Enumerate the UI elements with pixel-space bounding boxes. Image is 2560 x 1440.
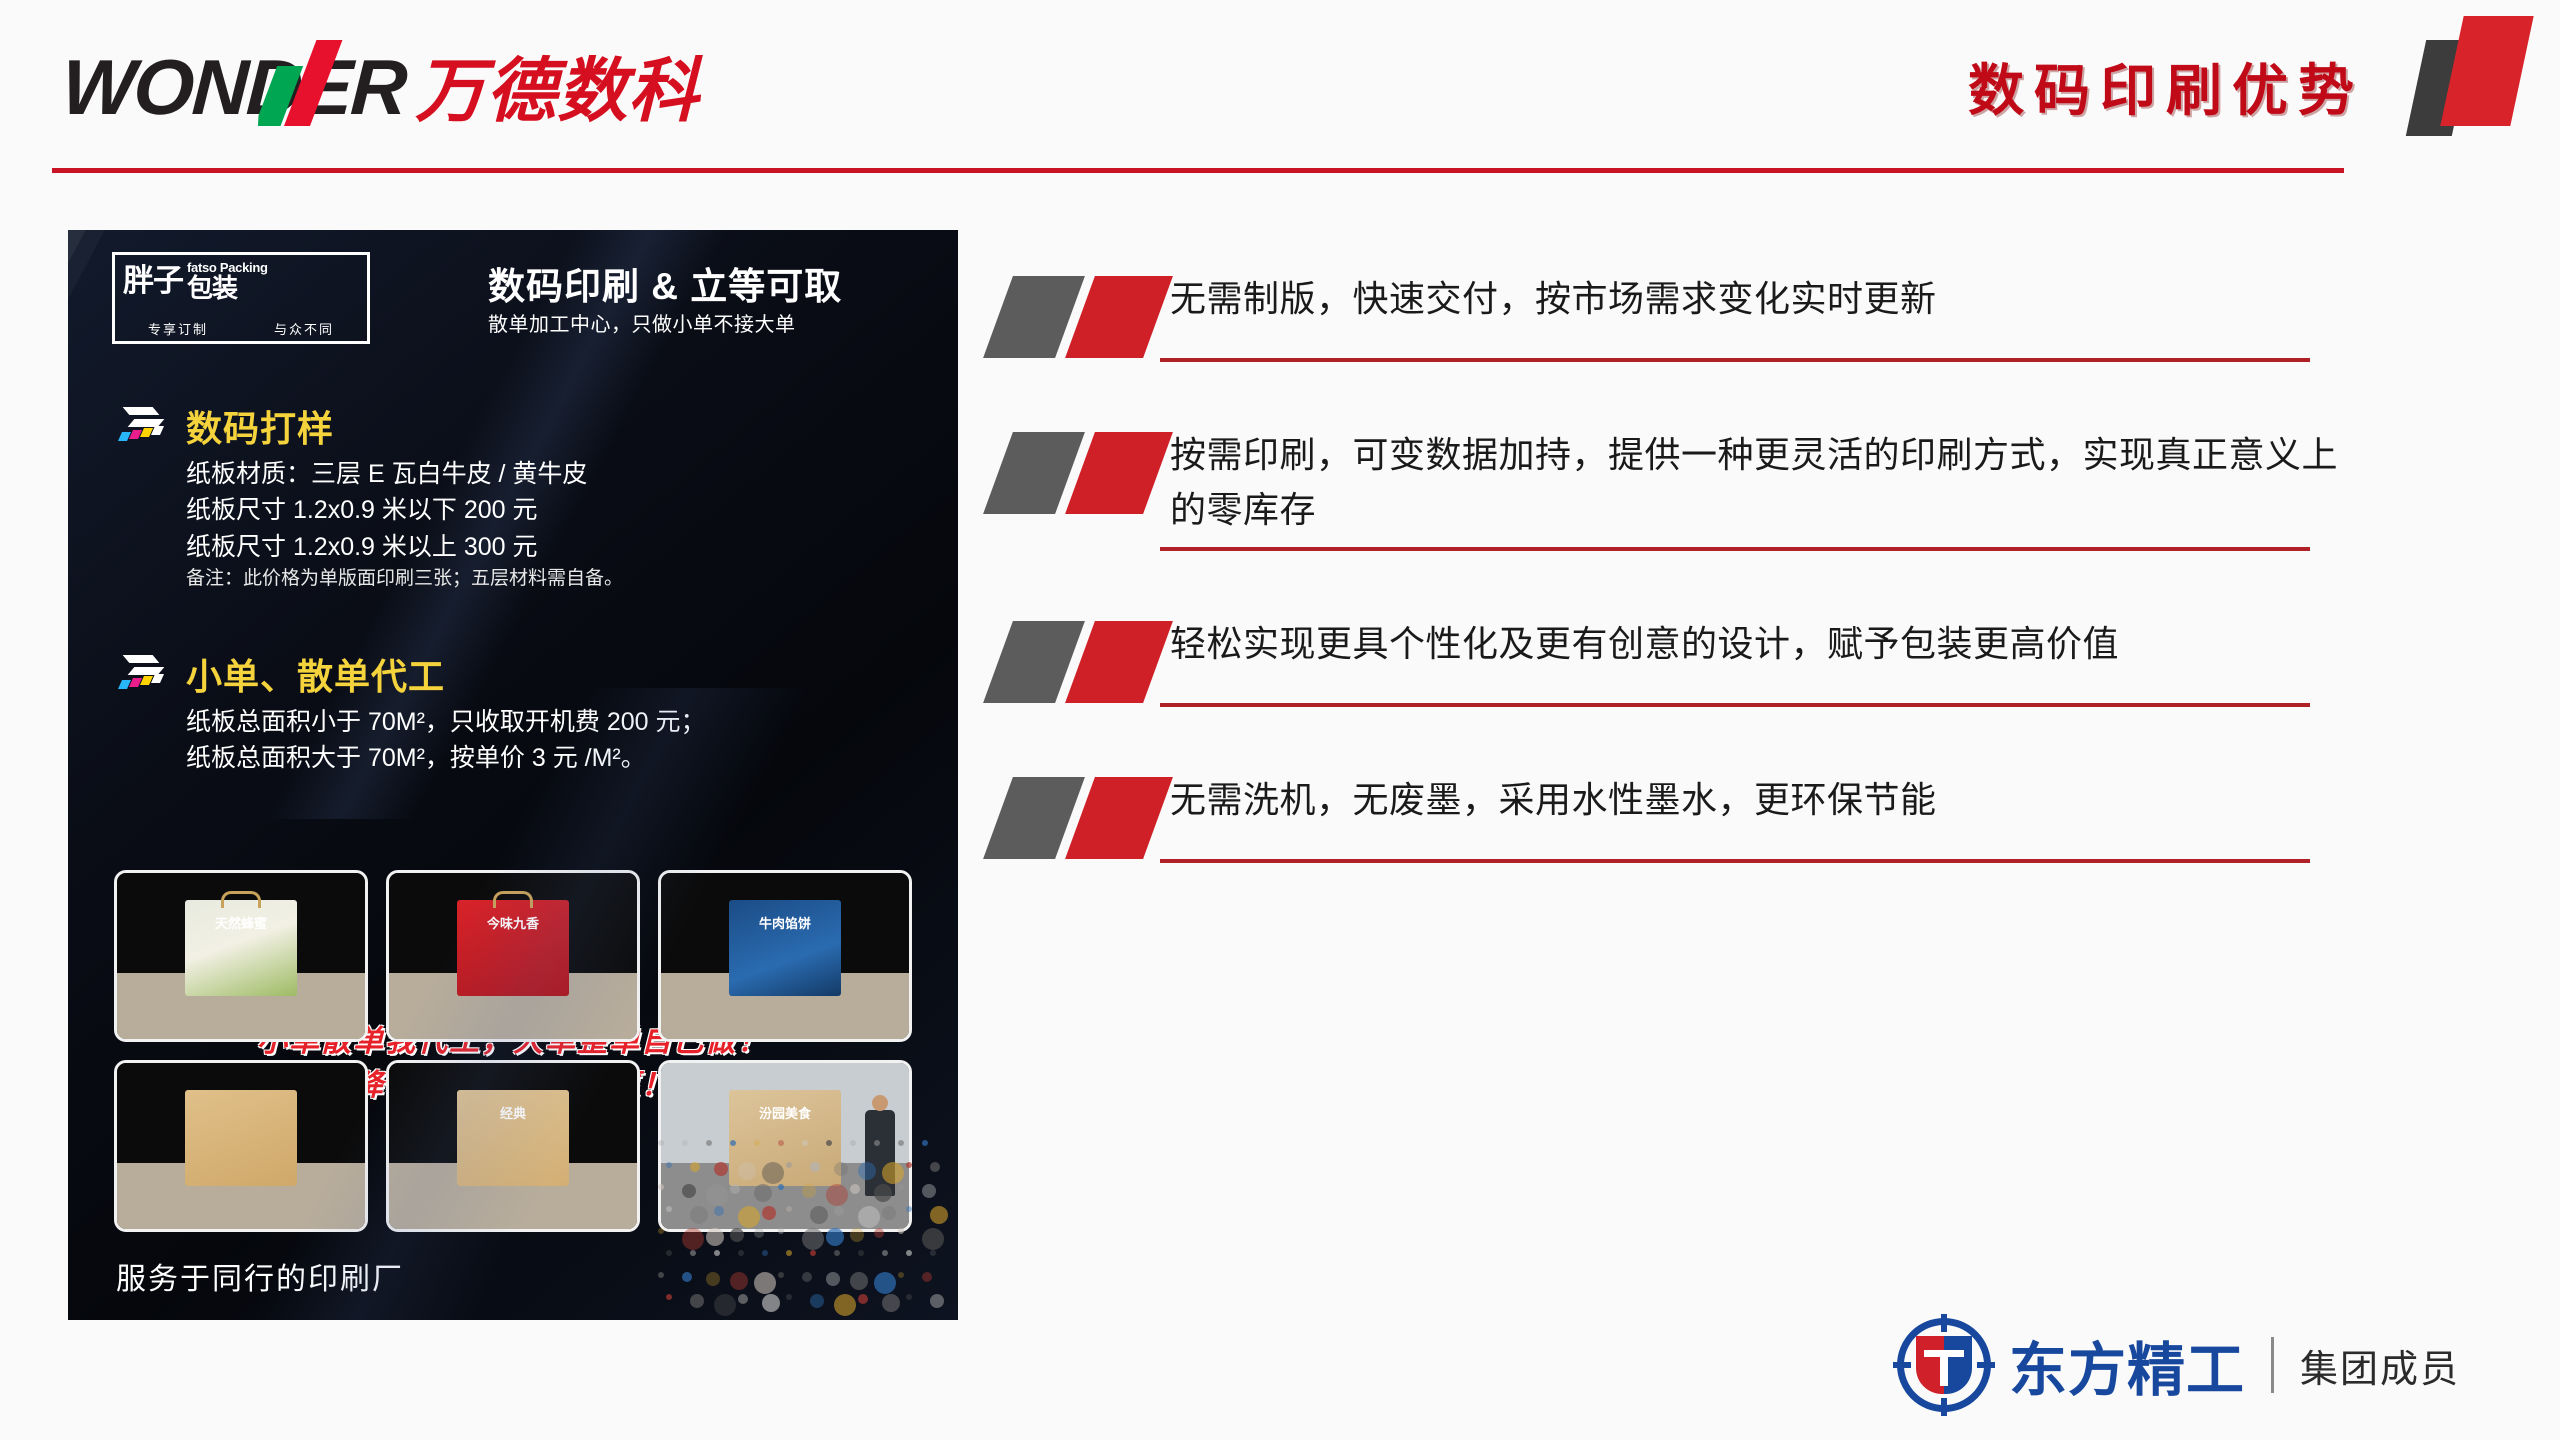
product-photo: 牛肉馅饼 xyxy=(658,870,912,1042)
slogan-line-1: 小单散单我代工，大单整单自己做！ xyxy=(68,1020,958,1064)
poster-headline: 数码印刷 & 立等可取 xyxy=(488,256,842,310)
header-divider xyxy=(52,168,2344,173)
section-title: 数码打样 xyxy=(186,400,334,452)
fatso-char-1: 胖 xyxy=(123,263,153,298)
advantage-underline xyxy=(1160,703,2310,707)
chevron-marker-icon xyxy=(998,272,1198,358)
promo-poster: 胖子 fatso Packing 包装 专享订制 与众不同 数码印刷 & 立等可… xyxy=(68,230,958,1320)
decorative-dot-pattern xyxy=(658,1140,958,1320)
section-note: 备注：此价格为单版面印刷三张；五层材料需自备。 xyxy=(186,565,623,594)
group-member-label: 集团成员 xyxy=(2300,1338,2460,1393)
advantage-underline xyxy=(1160,547,2310,551)
section-line: 纸板尺寸 1.2x0.9 米以上 300 元 xyxy=(186,529,623,565)
page-title: 数码印刷优势 xyxy=(1968,46,2364,127)
product-photo: 经典 xyxy=(386,1060,640,1232)
fatso-logo-char: 胖子 xyxy=(123,266,183,295)
corner-red-shape xyxy=(2440,16,2533,126)
section-line: 纸板尺寸 1.2x0.9 米以下 200 元 xyxy=(186,492,623,528)
poster-footer-text: 服务于同行的印刷厂 xyxy=(116,1254,404,1298)
advantage-text: 按需印刷，可变数据加持，提供一种更灵活的印刷方式，实现真正意义上的零库存 xyxy=(1170,428,2340,547)
section-line: 纸板材质：三层 E 瓦白牛皮 / 黄牛皮 xyxy=(186,456,623,492)
product-label: 汾园美食 xyxy=(729,1107,841,1121)
double-arrow-icon xyxy=(118,651,176,697)
fatso-cn-name: 包装 xyxy=(187,275,268,301)
wonder-text: WONDER xyxy=(60,43,408,131)
advantage-item: 无需洗机，无废墨，采用水性墨水，更环保节能 xyxy=(990,773,2340,863)
chevron-marker-icon xyxy=(998,428,1198,514)
advantage-text: 无需洗机，无废墨，采用水性墨水，更环保节能 xyxy=(1170,773,2340,838)
chevron-marker-icon xyxy=(998,617,1198,703)
advantage-item: 按需印刷，可变数据加持，提供一种更灵活的印刷方式，实现真正意义上的零库存 xyxy=(990,428,2340,551)
fatso-packing-logo: 胖子 fatso Packing 包装 专享订制 与众不同 xyxy=(112,252,370,344)
brand-chinese-name: 万德数科 xyxy=(415,56,699,126)
brand-logo: WONDER 万德数科 xyxy=(62,48,699,126)
poster-section-oem: 小单、散单代工 纸板总面积小于 70M²，只收取开机费 200 元； 纸板总面积… xyxy=(118,648,706,777)
product-photo xyxy=(114,1060,368,1232)
logo-divider xyxy=(2271,1337,2274,1393)
poster-subtitle: 散单加工中心，只做小单不接大单 xyxy=(488,308,796,337)
dongfang-emblem-icon xyxy=(1897,1318,1991,1412)
product-photo: 今味九香 xyxy=(386,870,640,1042)
corner-accent-icon xyxy=(2412,8,2532,138)
section-line: 纸板总面积大于 70M²，按单价 3 元 /M²。 xyxy=(186,740,706,776)
dongfang-brand-name: 东方精工 xyxy=(2009,1323,2245,1407)
product-label: 天然蜂蜜 xyxy=(185,917,297,931)
fatso-char-2: 子 xyxy=(153,263,183,298)
advantage-underline xyxy=(1160,859,2310,863)
page-header: WONDER 万德数科 数码印刷优势 xyxy=(0,0,2560,178)
product-photo: 天然蜂蜜 xyxy=(114,870,368,1042)
slogan-line-2: 降本增效，合作共赢！ xyxy=(68,1064,958,1108)
section-line: 纸板总面积小于 70M²，只收取开机费 200 元； xyxy=(186,704,706,740)
product-label: 经典 xyxy=(457,1107,569,1121)
advantage-underline xyxy=(1160,358,2310,362)
person-silhouette xyxy=(865,1110,895,1196)
advantage-text: 无需制版，快速交付，按市场需求变化实时更新 xyxy=(1170,272,2340,337)
poster-section-proofing: 数码打样 纸板材质：三层 E 瓦白牛皮 / 黄牛皮 纸板尺寸 1.2x0.9 米… xyxy=(118,400,623,593)
product-photo: 汾园美食 xyxy=(658,1060,912,1232)
chevron-marker-icon xyxy=(998,773,1198,859)
wonder-wordmark: WONDER xyxy=(60,48,407,126)
poster-slogan: 小单散单我代工，大单整单自己做！ 降本增效，合作共赢！ xyxy=(68,1020,958,1107)
product-photo-grid: 天然蜂蜜 今味九香 牛肉馅饼 经典 汾园美食 xyxy=(114,870,914,1232)
group-member-logo: 东方精工 集团成员 xyxy=(1897,1318,2460,1412)
advantage-item: 无需制版，快速交付，按市场需求变化实时更新 xyxy=(990,272,2340,362)
section-title: 小单、散单代工 xyxy=(186,648,445,700)
advantage-text: 轻松实现更具个性化及更有创意的设计，赋予包装更高价值 xyxy=(1170,617,2340,682)
product-label: 牛肉馅饼 xyxy=(729,917,841,931)
double-arrow-icon xyxy=(118,403,176,449)
advantage-list: 无需制版，快速交付，按市场需求变化实时更新 按需印刷，可变数据加持，提供一种更灵… xyxy=(990,272,2340,929)
product-label: 今味九香 xyxy=(457,917,569,931)
advantage-item: 轻松实现更具个性化及更有创意的设计，赋予包装更高价值 xyxy=(990,617,2340,707)
fatso-tagline-left: 专享订制 xyxy=(148,319,208,338)
fatso-tagline-right: 与众不同 xyxy=(274,319,334,338)
